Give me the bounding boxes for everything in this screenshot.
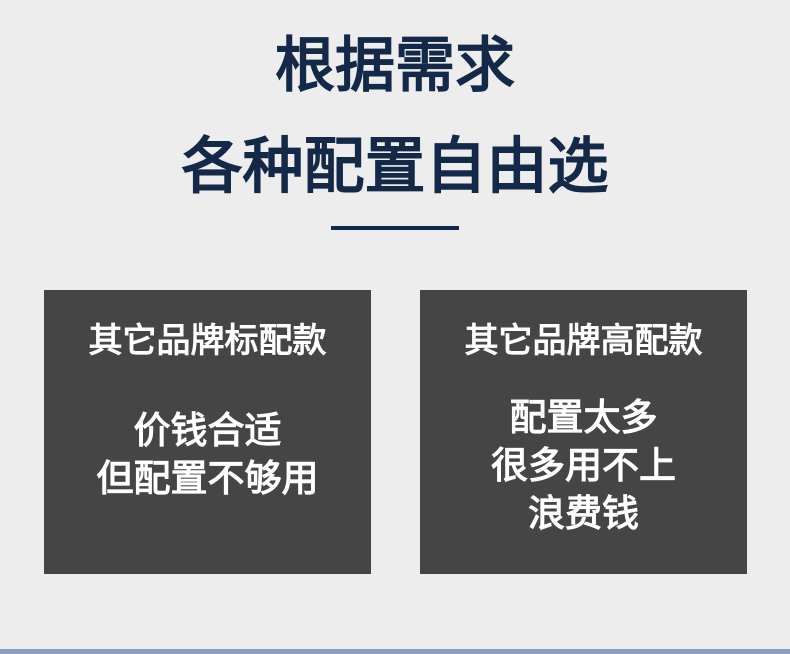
card-title: 其它品牌标配款 <box>44 322 371 360</box>
bottom-accent-band <box>0 649 790 654</box>
heading-line-primary: 根据需求 <box>0 36 790 96</box>
card-body-line: 但配置不够用 <box>44 455 371 503</box>
heading-divider <box>331 226 459 230</box>
heading-line-secondary: 各种配置自由选 <box>0 136 790 197</box>
card-body-line: 价钱合适 <box>44 407 371 455</box>
card-body: 价钱合适 但配置不够用 <box>44 407 371 503</box>
promo-page: 根据需求 各种配置自由选 其它品牌标配款 价钱合适 但配置不够用 其它品牌高配款… <box>0 0 790 654</box>
card-other-brand-premium: 其它品牌高配款 配置太多 很多用不上 浪费钱 <box>420 290 747 574</box>
comparison-cards-row: 其它品牌标配款 价钱合适 但配置不够用 其它品牌高配款 配置太多 很多用不上 浪… <box>0 290 790 574</box>
card-other-brand-standard: 其它品牌标配款 价钱合适 但配置不够用 <box>44 290 371 574</box>
card-body-line: 配置太多 <box>420 394 747 442</box>
card-body-line: 浪费钱 <box>420 490 747 538</box>
card-title: 其它品牌高配款 <box>420 322 747 360</box>
card-body-line: 很多用不上 <box>420 442 747 490</box>
card-body: 配置太多 很多用不上 浪费钱 <box>420 394 747 538</box>
